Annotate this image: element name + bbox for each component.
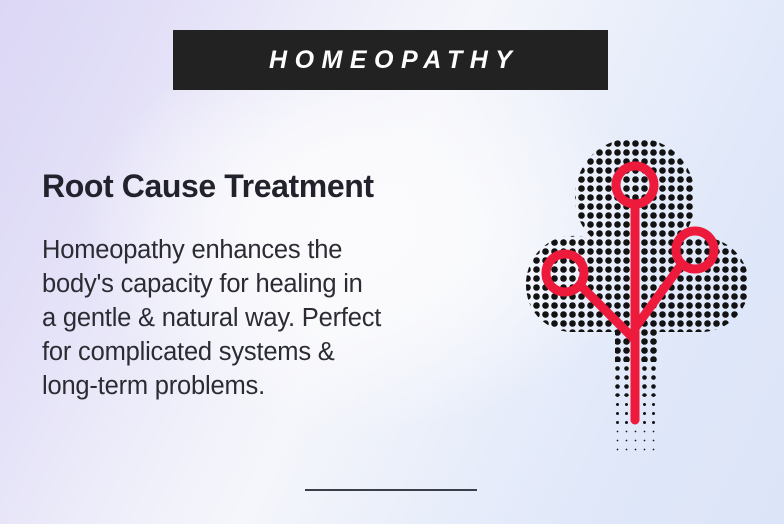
bottom-divider — [305, 489, 477, 491]
body-line: body's capacity for healing in — [42, 268, 512, 302]
homeopathy-info-card: HOMEOPATHY Root Cause Treatment Homeopat… — [0, 0, 784, 524]
page-title: Root Cause Treatment — [42, 168, 374, 205]
body-line: a gentle & natural way. Perfect — [42, 302, 512, 336]
body-line: for complicated systems & — [42, 336, 512, 370]
body-paragraph: Homeopathy enhances the body's capacity … — [42, 234, 512, 404]
halftone-tree-illustration — [505, 130, 767, 460]
body-line: Homeopathy enhances the — [42, 234, 512, 268]
banner: HOMEOPATHY — [173, 30, 608, 90]
body-line: long-term problems. — [42, 370, 512, 404]
banner-title: HOMEOPATHY — [262, 48, 520, 73]
